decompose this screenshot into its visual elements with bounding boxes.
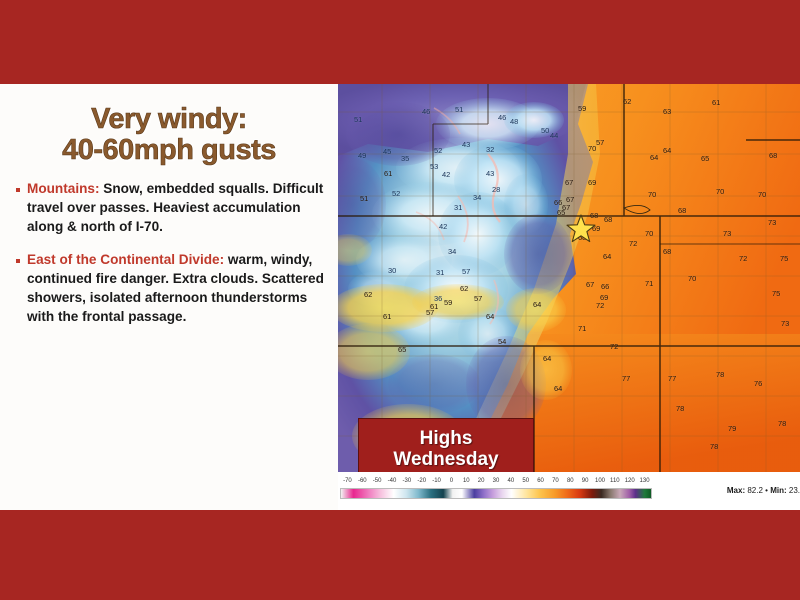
scale-tick: 50 [522, 478, 529, 484]
scale-tick-labels: -70-60-50-40-30-20-100102030405060708090… [338, 478, 658, 488]
map-title-line-2: Wednesday [393, 449, 498, 470]
min-label: Min: [770, 486, 786, 495]
city-star-icon [566, 214, 596, 244]
forecast-text-panel: Very windy: 40-60mph gusts Mountains: Sn… [0, 84, 338, 510]
separator-dot: • [765, 486, 768, 495]
max-label: Max: [727, 486, 745, 495]
scale-tick: -70 [343, 478, 352, 484]
scale-tick: 90 [582, 478, 589, 484]
page-title: Very windy: 40-60mph gusts [14, 104, 324, 167]
max-min-readout: Max: 82.2 • Min: 23. [727, 486, 800, 495]
scale-tick: 20 [478, 478, 485, 484]
bullet-text: East of the Continental Divide: warm, wi… [27, 250, 324, 327]
scale-tick: 80 [567, 478, 574, 484]
bullet-dot-icon [16, 188, 20, 192]
scale-tick: 0 [450, 478, 453, 484]
bullet-lead-label: Mountains: [27, 181, 100, 196]
headline-line-2: 40-60mph gusts [14, 135, 324, 166]
scale-tick: -60 [358, 478, 367, 484]
map-raster [338, 84, 800, 472]
max-value: 82.2 [747, 486, 763, 495]
scale-color-ramp [340, 488, 652, 499]
scale-tick: 70 [552, 478, 559, 484]
scale-tick: -50 [373, 478, 382, 484]
temperature-map[interactable]: 5146514648504459626361576465686451615253… [338, 84, 800, 510]
scale-tick: 120 [625, 478, 635, 484]
min-value: 23. [789, 486, 800, 495]
bottom-border-band [0, 510, 800, 600]
scale-tick: -20 [417, 478, 426, 484]
scale-tick: 10 [463, 478, 470, 484]
scale-tick: 30 [493, 478, 500, 484]
top-border-band [0, 0, 800, 84]
bullet-item-east-of-divide: East of the Continental Divide: warm, wi… [14, 250, 324, 327]
scale-tick: 110 [610, 478, 620, 484]
bullet-dot-icon [16, 259, 20, 263]
bullet-text: Mountains: Snow, embedded squalls. Diffi… [27, 179, 324, 237]
map-title-line-1: Highs [420, 428, 473, 449]
scale-tick: 60 [537, 478, 544, 484]
bullet-lead-label: East of the Continental Divide: [27, 252, 224, 267]
scale-tick: 40 [508, 478, 515, 484]
headline-line-1: Very windy: [14, 104, 324, 135]
color-scale-legend: -70-60-50-40-30-20-100102030405060708090… [338, 472, 800, 510]
weather-slide: Very windy: 40-60mph gusts Mountains: Sn… [0, 0, 800, 600]
map-title-badge: Highs Wednesday [358, 418, 534, 480]
scale-tick: -40 [388, 478, 397, 484]
scale-tick: 100 [595, 478, 605, 484]
scale-tick: -30 [403, 478, 412, 484]
bullet-item-mountains: Mountains: Snow, embedded squalls. Diffi… [14, 179, 324, 237]
scale-tick: 130 [640, 478, 650, 484]
scale-tick: -10 [432, 478, 441, 484]
